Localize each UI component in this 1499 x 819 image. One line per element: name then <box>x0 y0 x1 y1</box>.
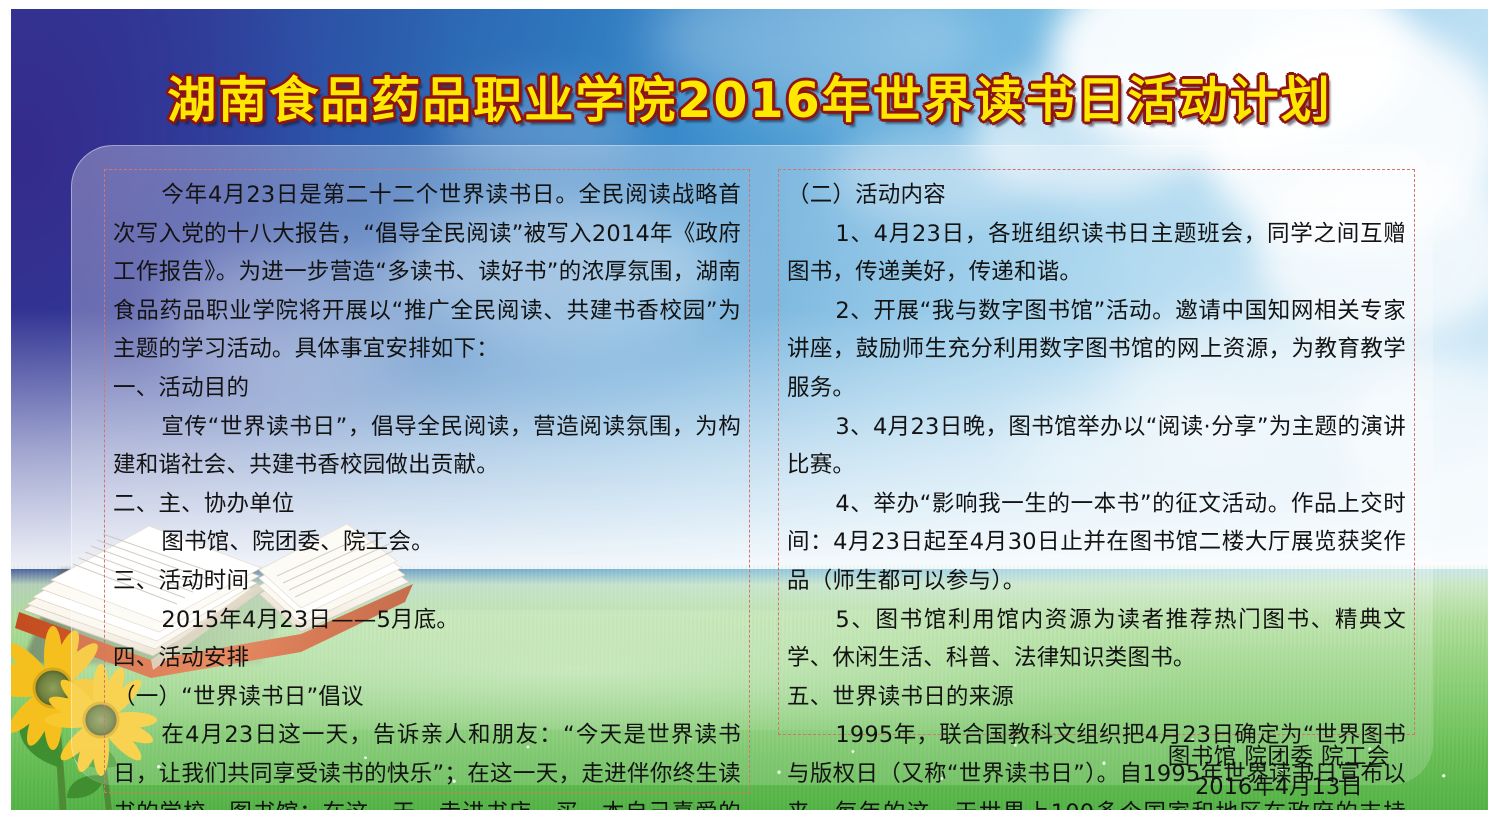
section-heading: 二、主、协办单位 <box>113 485 741 524</box>
section-heading: 一、活动目的 <box>113 369 741 408</box>
page-title-container: 湖南食品药品职业学院2016年世界读书日活动计划 <box>11 61 1488 132</box>
signature-organizations: 图书馆 院团委 院工会 <box>1168 742 1390 772</box>
subsection-heading: （一）“世界读书日”倡议 <box>113 678 741 717</box>
poster-canvas: 湖南食品药品职业学院2016年世界读书日活动计划 今年4月23日是第二十二个世界… <box>11 9 1488 810</box>
page-title: 湖南食品药品职业学院2016年世界读书日活动计划 <box>167 61 1331 132</box>
paragraph: 宣传“世界读书日”，倡导全民阅读，营造阅读氛围，为构建和谐社会、共建书香校园做出… <box>113 408 741 485</box>
poster-root: 湖南食品药品职业学院2016年世界读书日活动计划 今年4月23日是第二十二个世界… <box>0 0 1499 819</box>
left-text-column: 今年4月23日是第二十二个世界读书日。全民阅读战略首次写入党的十八大报告，“倡导… <box>104 169 750 793</box>
paragraph: 5、图书馆利用馆内资源为读者推荐热门图书、精典文学、休闲生活、科普、法律知识类图… <box>787 601 1406 678</box>
section-heading: 四、活动安排 <box>113 639 741 678</box>
paragraph: 4、举办“影响我一生的一本书”的征文活动。作品上交时间：4月23日起至4月30日… <box>787 485 1406 601</box>
paragraph: 3、4月23日晚，图书馆举办以“阅读·分享”为主题的演讲比赛。 <box>787 408 1406 485</box>
signature-date: 2016年4月13日 <box>1168 772 1390 802</box>
signature-block: 图书馆 院团委 院工会 2016年4月13日 <box>1168 742 1390 802</box>
subsection-heading: （二）活动内容 <box>787 176 1406 215</box>
section-heading: 五、世界读书日的来源 <box>787 678 1406 717</box>
paragraph: 图书馆、院团委、院工会。 <box>113 523 741 562</box>
paragraph: 2015年4月23日——5月底。 <box>113 601 741 640</box>
section-heading: 三、活动时间 <box>113 562 741 601</box>
paragraph: 今年4月23日是第二十二个世界读书日。全民阅读战略首次写入党的十八大报告，“倡导… <box>113 176 741 369</box>
paragraph: 1、4月23日，各班组织读书日主题班会，同学之间互赠图书，传递美好，传递和谐。 <box>787 215 1406 292</box>
right-text-column: （二）活动内容 1、4月23日，各班组织读书日主题班会，同学之间互赠图书，传递美… <box>778 169 1415 735</box>
paragraph: 在4月23日这一天，告诉亲人和朋友：“今天是世界读书日，让我们共同享受读书的快乐… <box>113 716 741 810</box>
paragraph: 2、开展“我与数字图书馆”活动。邀请中国知网相关专家讲座，鼓励师生充分利用数字图… <box>787 292 1406 408</box>
